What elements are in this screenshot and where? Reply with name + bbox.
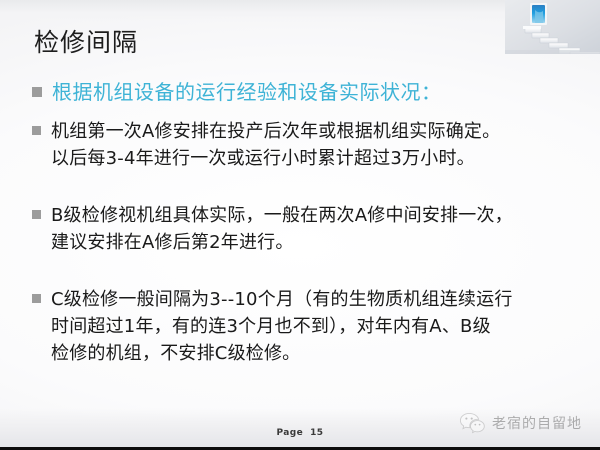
watermark-text: 老宿的自留地 <box>492 413 582 433</box>
heading-bullet: 根据机组设备的运行经验和设备实际状况： <box>32 78 572 106</box>
bullet-line: 时间超过1年，有的连3个月也不到），对年内有A、B级 <box>51 313 572 340</box>
square-bullet-icon <box>32 126 41 135</box>
wechat-logo-icon <box>459 412 485 434</box>
page-label: Page <box>277 428 304 438</box>
staircase-photo-decoration <box>505 0 600 54</box>
bullet-item-3: C级检修一般间隔为3--10个月（有的生物质机组连续运行 时间超过1年，有的连3… <box>32 286 572 367</box>
heading-bullet-line: 根据机组设备的运行经验和设备实际状况： <box>52 78 572 106</box>
bullet-line: 建议安排在A修后第2年进行。 <box>51 229 572 256</box>
bullet-line: 以后每3-4年进行一次或运行小时累计超过3万小时。 <box>51 145 572 172</box>
bullet-line: 检修的机组，不安排C级检修。 <box>51 340 572 367</box>
square-bullet-icon <box>32 294 41 303</box>
bullet-item-2-text: B级检修视机组具体实际，一般在两次A修中间安排一次， 建议安排在A修后第2年进行… <box>51 202 572 256</box>
bullet-item-1-text: 机组第一次A修安排在投产后次年或根据机组实际确定。 以后每3-4年进行一次或运行… <box>51 118 572 172</box>
bullet-line: B级检修视机组具体实际，一般在两次A修中间安排一次， <box>51 202 572 229</box>
page-number: 15 <box>310 428 323 438</box>
square-bullet-icon <box>32 210 41 219</box>
bullet-item-1: 机组第一次A修安排在投产后次年或根据机组实际确定。 以后每3-4年进行一次或运行… <box>32 118 572 172</box>
watermark: 老宿的自留地 <box>459 412 582 434</box>
heading-bullet-text: 根据机组设备的运行经验和设备实际状况： <box>52 78 572 106</box>
square-bullet-icon <box>32 87 42 97</box>
bullet-line: C级检修一般间隔为3--10个月（有的生物质机组连续运行 <box>51 286 572 313</box>
slide-title: 检修间隔 <box>34 26 138 60</box>
bullet-line: 机组第一次A修安排在投产后次年或根据机组实际确定。 <box>51 118 572 145</box>
bullet-item-3-text: C级检修一般间隔为3--10个月（有的生物质机组连续运行 时间超过1年，有的连3… <box>51 286 572 367</box>
bullet-item-2: B级检修视机组具体实际，一般在两次A修中间安排一次， 建议安排在A修后第2年进行… <box>32 202 572 256</box>
slide-canvas: 检修间隔 根据机组设备的运行经验和设备实际状况： 机组第一次A修安排在投产后次年… <box>0 0 600 450</box>
slide-body: 根据机组设备的运行经验和设备实际状况： 机组第一次A修安排在投产后次年或根据机组… <box>32 78 572 367</box>
